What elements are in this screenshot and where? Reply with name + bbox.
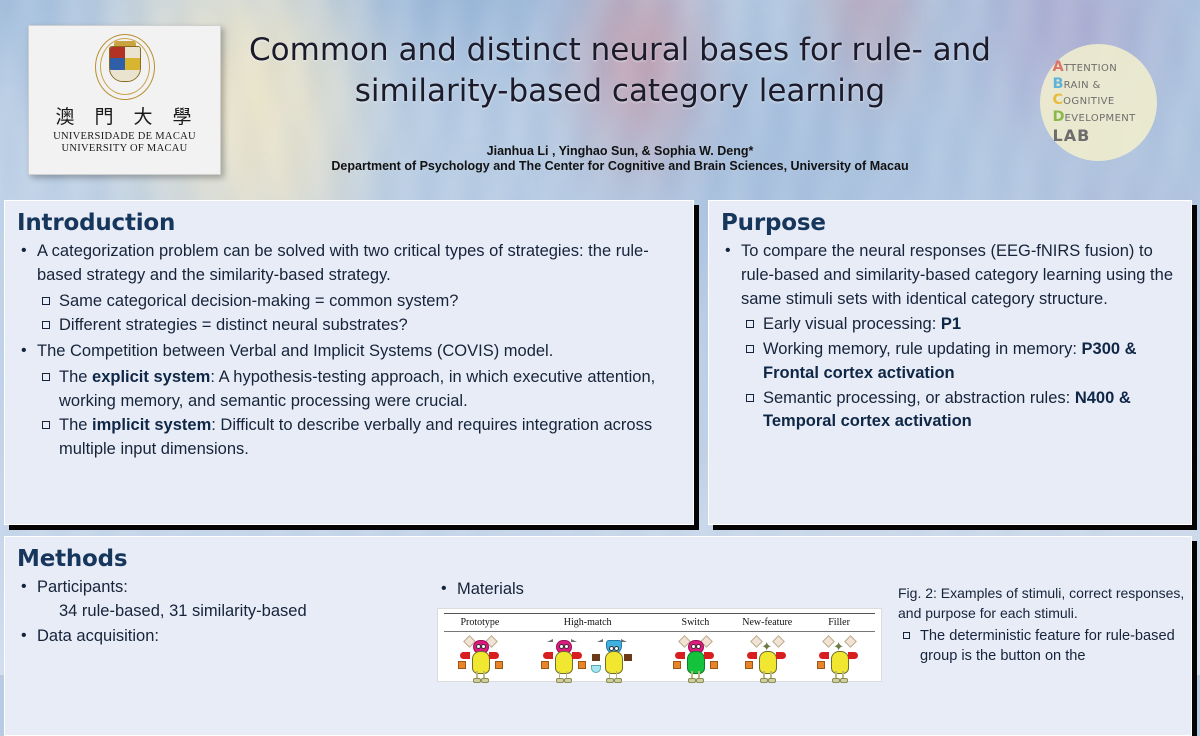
explicit-system-label: explicit system: [92, 368, 210, 386]
um-crest-icon: [94, 32, 156, 104]
figure-col-filler: Filler: [803, 614, 875, 631]
um-logo-chinese: 澳 門 大 學: [55, 107, 198, 128]
introduction-heading: Introduction: [5, 201, 693, 238]
methods-middle-column: Materials Prototype High-match Switch Ne…: [437, 576, 892, 682]
figure-caption: Fig. 2: Examples of stimuli, correct res…: [898, 584, 1188, 624]
abcd-row-a: A TTENTION: [1053, 60, 1151, 75]
stimulus-prototype: [444, 635, 516, 681]
introduction-sublist-2: The explicit system: A hypothesis-testin…: [37, 366, 681, 462]
figure-stimuli-row: ✦: [444, 632, 875, 681]
p1-component: P1: [941, 315, 961, 333]
abcd-cap-b: B: [1053, 77, 1064, 92]
list-item: To compare the neural responses (EEG-fNI…: [721, 240, 1179, 434]
alien-stimulus-icon: ✦: [743, 635, 791, 681]
abcd-cap-c: C: [1053, 93, 1064, 108]
stimulus-switch: [660, 635, 732, 681]
um-logo-line2: UNIVERSITY OF MACAU: [61, 143, 187, 154]
methods-left-column: Participants: 34 rule-based, 31 similari…: [17, 576, 437, 682]
alien-stimulus-icon: [456, 635, 504, 681]
data-acquisition-label: Data acquisition:: [37, 627, 159, 645]
abcd-rest-a: TTENTION: [1064, 64, 1117, 74]
alien-stimulus-icon: [671, 635, 719, 681]
p1-prefix: Early visual processing:: [763, 315, 941, 333]
page-title: Common and distinct neural bases for rul…: [225, 30, 1015, 112]
stimuli-examples-figure: Prototype High-match Switch New-feature …: [437, 608, 882, 682]
abcd-rest-c: OGNITIVE: [1063, 97, 1114, 107]
um-logo-line1: UNIVERSIDADE DE MACAU: [53, 131, 196, 142]
intro-bullet-1-text: A categorization problem can be solved w…: [37, 242, 649, 284]
abcd-cap-d: D: [1053, 110, 1065, 125]
intro-bullet-2-text: The Competition between Verbal and Impli…: [37, 342, 553, 360]
methods-bullet-list: Participants: 34 rule-based, 31 similari…: [17, 576, 437, 648]
abcd-lab-logo: A TTENTION B RAIN & C OGNITIVE D EVELOPM…: [1040, 44, 1157, 161]
figure-column-headers: Prototype High-match Switch New-feature …: [444, 613, 875, 632]
introduction-panel: Introduction A categorization problem ca…: [4, 200, 694, 525]
list-item: Semantic processing, or abstraction rule…: [741, 387, 1179, 435]
abcd-cap-a: A: [1053, 60, 1064, 75]
explicit-system-prefix: The: [59, 368, 92, 386]
purpose-bullet-list: To compare the neural responses (EEG-fNI…: [721, 240, 1179, 434]
purpose-panel: Purpose To compare the neural responses …: [708, 200, 1192, 525]
participants-detail: 34 rule-based, 31 similarity-based: [37, 600, 437, 624]
author-list: Jianhua Li , Yinghao Sun, & Sophia W. De…: [225, 143, 1015, 160]
list-item: The deterministic feature for rule-based…: [898, 626, 1188, 667]
list-item: Data acquisition:: [17, 625, 437, 649]
implicit-system-prefix: The: [59, 416, 92, 434]
purpose-sublist: Early visual processing: P1 Working memo…: [741, 313, 1179, 434]
purpose-bullet-1-text: To compare the neural responses (EEG-fNI…: [741, 242, 1173, 308]
figure-col-prototype: Prototype: [444, 614, 516, 631]
abcd-row-b: B RAIN &: [1053, 77, 1151, 92]
introduction-sublist-1: Same categorical decision-making = commo…: [37, 290, 681, 339]
alien-stimulus-icon: [539, 635, 587, 681]
list-item: Different strategies = distinct neural s…: [37, 314, 681, 338]
abcd-row-d: D EVELOPMENT: [1053, 110, 1151, 125]
figure-col-switch: Switch: [660, 614, 732, 631]
list-item: Materials: [437, 578, 892, 602]
affiliation: Department of Psychology and The Center …: [185, 159, 1055, 173]
introduction-bullet-list: A categorization problem can be solved w…: [17, 240, 681, 462]
figure-caption-sublist: The deterministic feature for rule-based…: [898, 626, 1188, 667]
list-item: The implicit system: Difficult to descri…: [37, 414, 681, 462]
list-item: A categorization problem can be solved w…: [17, 240, 681, 338]
list-item: The Competition between Verbal and Impli…: [17, 340, 681, 462]
poster-header: 澳 門 大 學 UNIVERSIDADE DE MACAU UNIVERSITY…: [0, 0, 1200, 190]
participants-label: Participants:: [37, 578, 128, 596]
p300-prefix: Working memory, rule updating in memory:: [763, 340, 1082, 358]
abcd-rest-b: RAIN &: [1064, 81, 1101, 91]
methods-panel: Methods Participants: 34 rule-based, 31 …: [4, 536, 1192, 736]
stimulus-new-feature: ✦: [731, 635, 803, 681]
stimulus-filler: ✦: [803, 635, 875, 681]
implicit-system-label: implicit system: [92, 416, 211, 434]
methods-right-column: Fig. 2: Examples of stimuli, correct res…: [892, 576, 1188, 682]
stimulus-high-match: [516, 635, 660, 681]
list-item: Working memory, rule updating in memory:…: [741, 338, 1179, 386]
abcd-lab-word: LAB: [1053, 126, 1151, 145]
materials-list: Materials: [437, 578, 892, 602]
figure-col-high-match: High-match: [516, 614, 660, 631]
purpose-heading: Purpose: [709, 201, 1191, 238]
university-of-macau-logo: 澳 門 大 學 UNIVERSIDADE DE MACAU UNIVERSITY…: [28, 25, 221, 175]
alien-stimulus-icon: [589, 635, 637, 681]
methods-heading: Methods: [5, 537, 1191, 574]
figure-col-new-feature: New-feature: [731, 614, 803, 631]
list-item: The explicit system: A hypothesis-testin…: [37, 366, 681, 414]
abcd-row-c: C OGNITIVE: [1053, 93, 1151, 108]
list-item: Same categorical decision-making = commo…: [37, 290, 681, 314]
list-item: Early visual processing: P1: [741, 313, 1179, 337]
alien-stimulus-icon: ✦: [815, 635, 863, 681]
n400-prefix: Semantic processing, or abstraction rule…: [763, 389, 1075, 407]
list-item: Participants: 34 rule-based, 31 similari…: [17, 576, 437, 624]
abcd-rest-d: EVELOPMENT: [1065, 114, 1136, 124]
